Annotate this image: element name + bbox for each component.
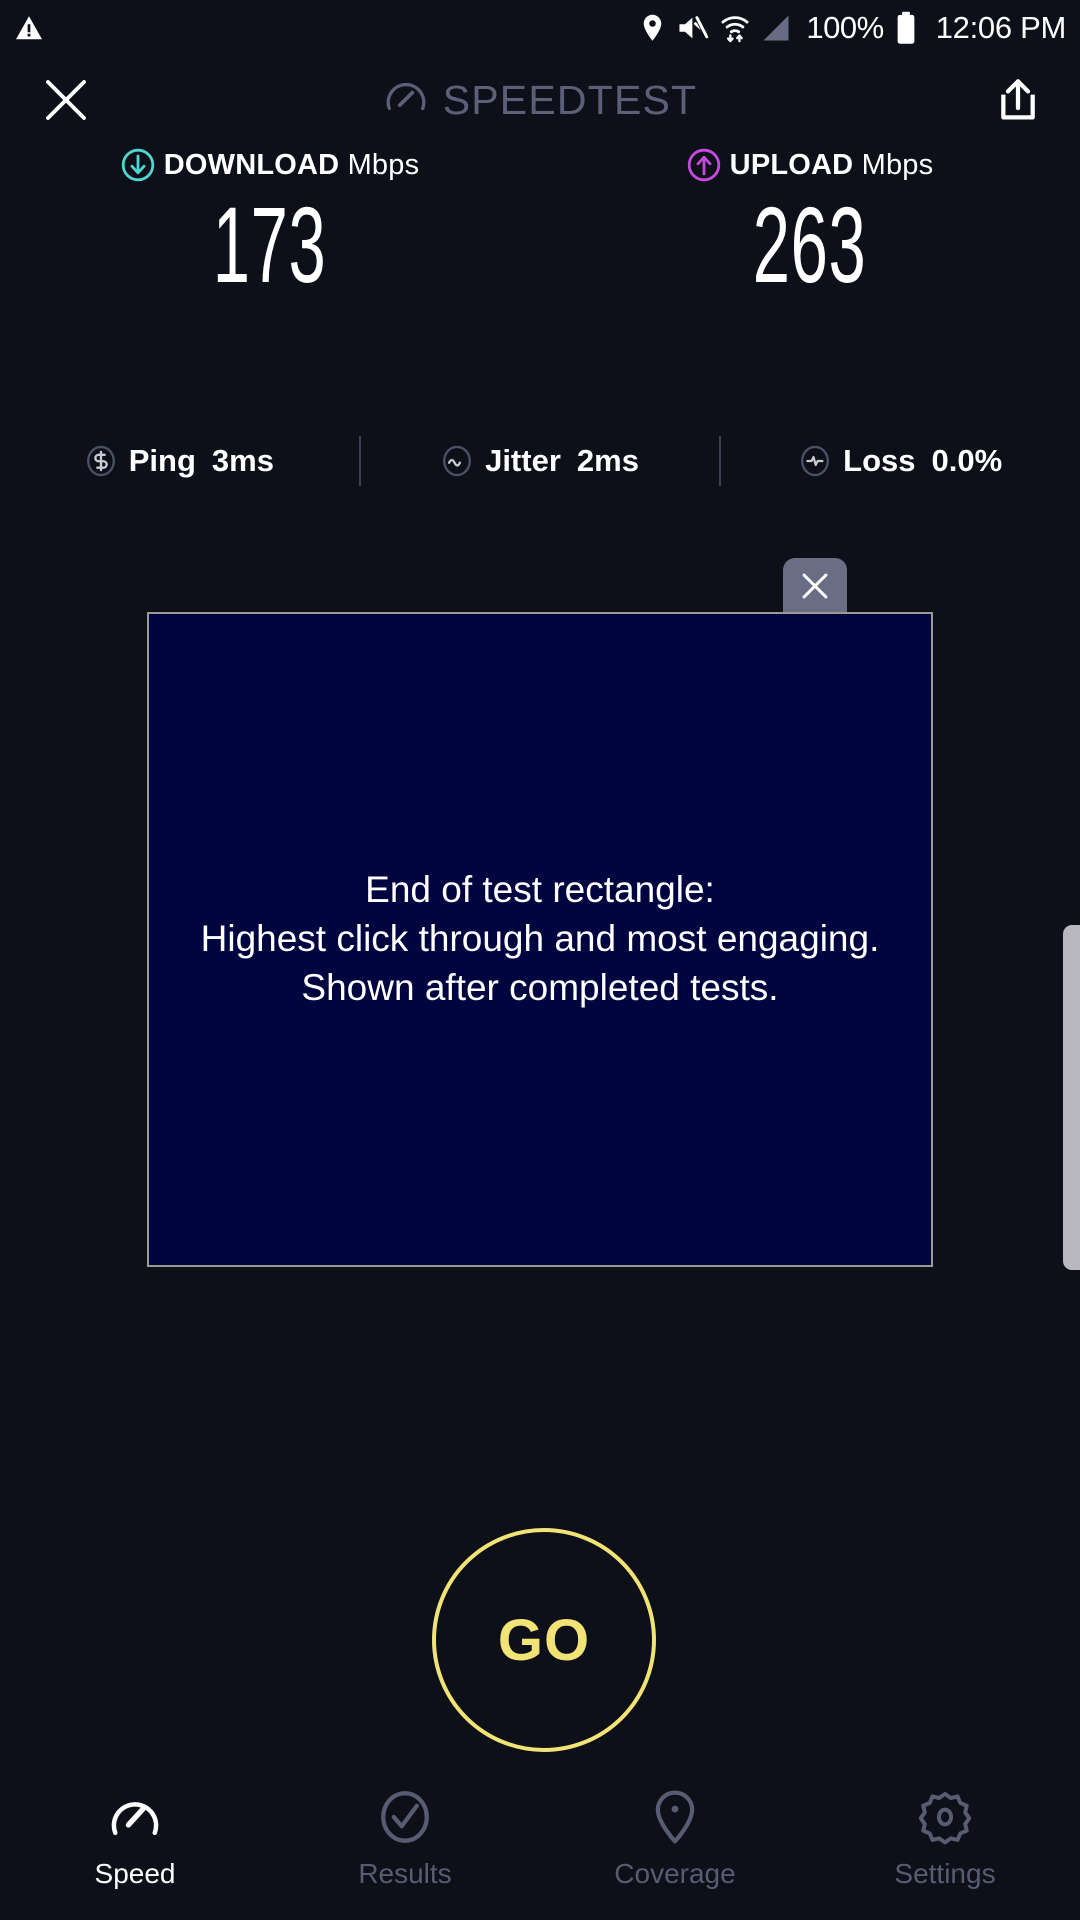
nav-label-settings: Settings [894, 1858, 995, 1890]
upload-result: UPLOAD Mbps 263 [540, 144, 1080, 300]
location-pin-icon [639, 13, 666, 43]
cellular-signal-icon [761, 14, 791, 42]
nav-item-results[interactable]: Results [270, 1770, 540, 1890]
system-status-bar: 100% 12:06 PM [0, 0, 1080, 56]
download-label: DOWNLOAD Mbps [164, 149, 420, 182]
bottom-navigation-bar: Speed Results Coverage [0, 1770, 1080, 1920]
warning-triangle-icon [14, 13, 44, 43]
location-pin-icon [646, 1788, 704, 1846]
nav-item-coverage[interactable]: Coverage [540, 1770, 810, 1890]
download-unit: Mbps [348, 149, 420, 181]
download-arrow-icon [121, 148, 155, 182]
loss-icon [799, 445, 831, 477]
go-button[interactable]: GO [432, 1528, 656, 1752]
ping-label: Ping [129, 443, 196, 479]
gear-icon [916, 1788, 974, 1846]
close-icon [798, 569, 832, 603]
wifi-icon [720, 12, 750, 44]
upload-unit: Mbps [862, 149, 934, 181]
jitter-label: Jitter [485, 443, 561, 479]
loss-label: Loss [843, 443, 915, 479]
page-scrollbar-thumb[interactable] [1063, 925, 1080, 1270]
jitter-icon [441, 445, 473, 477]
app-header: SPEEDTEST [0, 56, 1080, 144]
download-kind: DOWNLOAD [164, 149, 340, 181]
metric-loss: Loss 0.0% [721, 424, 1080, 498]
speedtest-app-screen: 100% 12:06 PM SPEEDTEST [0, 0, 1080, 1920]
check-circle-icon [376, 1788, 434, 1846]
test-results: DOWNLOAD Mbps 173 UP [0, 144, 1080, 300]
brand-title: SPEEDTEST [443, 77, 698, 124]
advertisement-container: End of test rectangle: Highest click thr… [147, 612, 933, 1267]
metric-ping: Ping 3ms [0, 424, 359, 498]
battery-full-icon [895, 11, 917, 45]
nav-item-speed[interactable]: Speed [0, 1770, 270, 1890]
ad-banner[interactable]: End of test rectangle: Highest click thr… [147, 612, 933, 1267]
nav-label-speed: Speed [95, 1858, 176, 1890]
download-result: DOWNLOAD Mbps 173 [0, 144, 540, 300]
volume-muted-icon [677, 13, 709, 43]
speedometer-icon [383, 77, 429, 123]
ad-line-3: Shown after completed tests. [201, 964, 880, 1013]
speedometer-icon [106, 1788, 164, 1846]
ad-line-1: End of test rectangle: [201, 866, 880, 915]
jitter-value: 2ms [577, 443, 639, 479]
share-button[interactable] [988, 70, 1048, 130]
nav-item-settings[interactable]: Settings [810, 1770, 1080, 1890]
upload-kind: UPLOAD [730, 149, 854, 181]
upload-arrow-icon [687, 148, 721, 182]
brand-logo: SPEEDTEST [0, 56, 1080, 144]
clock-label: 12:06 PM [936, 10, 1066, 46]
ad-close-button[interactable] [783, 558, 847, 614]
close-button[interactable] [34, 68, 98, 132]
ping-value: 3ms [212, 443, 274, 479]
nav-label-results: Results [358, 1858, 451, 1890]
upload-label: UPLOAD Mbps [730, 149, 934, 182]
ping-icon [85, 445, 117, 477]
download-value: 173 [213, 190, 327, 300]
upload-value: 263 [753, 190, 867, 300]
nav-label-coverage: Coverage [614, 1858, 735, 1890]
close-icon [42, 76, 90, 124]
connection-metrics-row: Ping 3ms Jitter 2ms [0, 424, 1080, 498]
share-icon [995, 76, 1041, 124]
loss-value: 0.0% [932, 443, 1003, 479]
ad-text: End of test rectangle: Highest click thr… [183, 866, 898, 1012]
metric-jitter: Jitter 2ms [361, 424, 720, 498]
ad-line-2: Highest click through and most engaging. [201, 915, 880, 964]
go-button-label: GO [498, 1607, 590, 1674]
battery-percent-label: 100% [806, 10, 883, 46]
